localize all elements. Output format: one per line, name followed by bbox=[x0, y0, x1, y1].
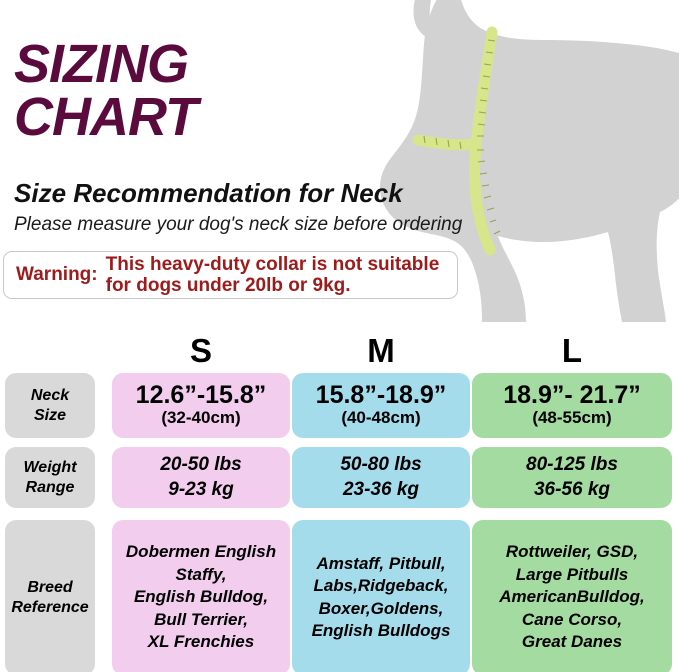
breed-reference-m-text: Amstaff, Pitbull, Labs,Ridgeback, Boxer,… bbox=[312, 553, 451, 643]
weight-range-s: 20-50 lbs 9-23 kg bbox=[112, 447, 290, 508]
instruction-text: Please measure your dog's neck size befo… bbox=[14, 214, 462, 236]
neck-size-l-sub: (48-55cm) bbox=[532, 408, 611, 428]
breed-reference-s-text: Dobermen English Staffy, English Bulldog… bbox=[126, 541, 276, 653]
warning-label: Warning: bbox=[4, 264, 106, 286]
row-label-neck-size: Neck Size bbox=[5, 373, 95, 438]
row-label-weight-range: Weight Range bbox=[5, 447, 95, 508]
weight-range-m-text: 50-80 lbs 23-36 kg bbox=[340, 453, 421, 502]
neck-size-s: 12.6”-15.8” (32-40cm) bbox=[112, 373, 290, 438]
dog-head-detail bbox=[413, 0, 436, 40]
warning-message: This heavy-duty collar is not suitable f… bbox=[106, 254, 440, 297]
column-header-m: M bbox=[292, 332, 470, 370]
weight-range-m: 50-80 lbs 23-36 kg bbox=[292, 447, 470, 508]
title-line-1: SIZING bbox=[14, 38, 484, 91]
breed-reference-s: Dobermen English Staffy, English Bulldog… bbox=[112, 520, 290, 672]
weight-range-s-text: 20-50 lbs 9-23 kg bbox=[160, 453, 241, 502]
breed-reference-m: Amstaff, Pitbull, Labs,Ridgeback, Boxer,… bbox=[292, 520, 470, 672]
neck-size-s-sub: (32-40cm) bbox=[161, 408, 240, 428]
neck-size-m-main: 15.8”-18.9” bbox=[316, 382, 447, 408]
neck-size-m: 15.8”-18.9” (40-48cm) bbox=[292, 373, 470, 438]
breed-reference-l-text: Rottweiler, GSD, Large Pitbulls American… bbox=[499, 541, 644, 653]
page-title: SIZING CHART bbox=[14, 38, 484, 144]
column-header-l: L bbox=[472, 332, 672, 370]
subtitle: Size Recommendation for Neck bbox=[14, 178, 403, 209]
weight-range-l-text: 80-125 lbs 36-56 kg bbox=[526, 453, 618, 502]
weight-range-l: 80-125 lbs 36-56 kg bbox=[472, 447, 672, 508]
neck-size-l: 18.9”- 21.7” (48-55cm) bbox=[472, 373, 672, 438]
neck-size-s-main: 12.6”-15.8” bbox=[136, 382, 267, 408]
neck-size-l-main: 18.9”- 21.7” bbox=[503, 382, 641, 408]
row-label-breed-reference: Breed Reference bbox=[5, 520, 95, 672]
breed-reference-l: Rottweiler, GSD, Large Pitbulls American… bbox=[472, 520, 672, 672]
warning-box: Warning: This heavy-duty collar is not s… bbox=[3, 251, 458, 299]
column-header-s: S bbox=[112, 332, 290, 370]
sizing-chart-page: SIZING CHART Size Recommendation for Nec… bbox=[0, 0, 679, 672]
neck-size-m-sub: (40-48cm) bbox=[341, 408, 420, 428]
title-line-2: CHART bbox=[14, 91, 484, 144]
